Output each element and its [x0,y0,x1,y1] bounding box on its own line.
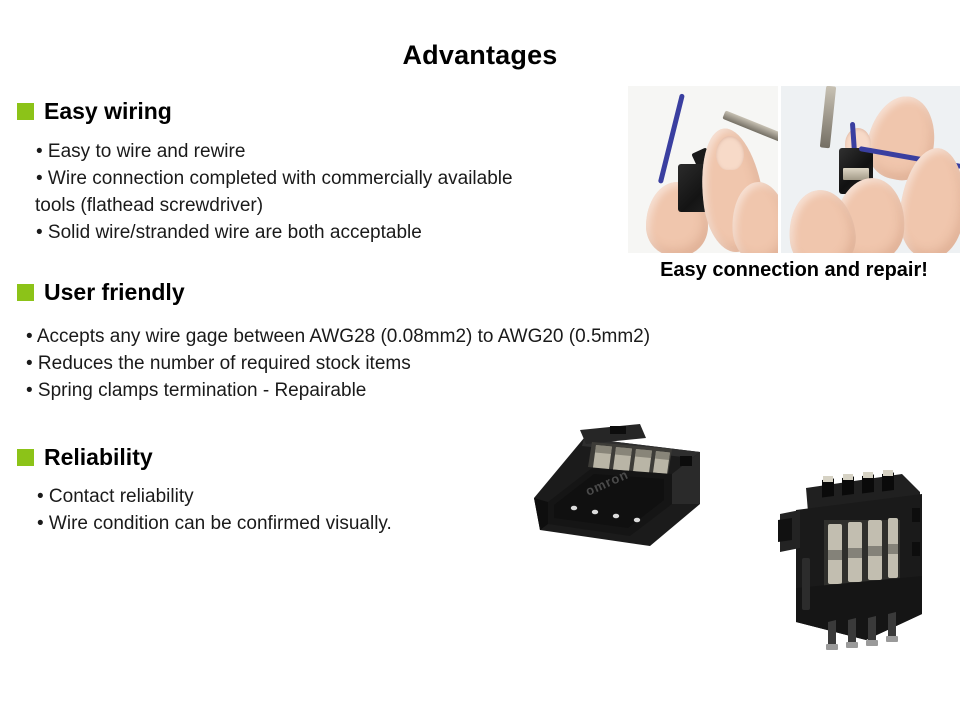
bullet-line: • Spring clamps termination - Repairable [26,377,766,404]
bullet-line-continuation: tools (flathead screwdriver) [35,192,616,219]
bullet-line: • Contact reliability [37,483,507,510]
section-heading-label: Reliability [44,446,153,469]
section-heading-reliability: Reliability [17,446,153,469]
photo-strip [628,86,960,253]
section-heading-label: User friendly [44,281,185,304]
page-title: Advantages [0,40,960,71]
section-heading-easy-wiring: Easy wiring [17,100,172,123]
slide-canvas: Advantages Easy wiring • Easy to wire an… [0,0,960,720]
photo-caption: Easy connection and repair! [628,259,960,282]
green-square-bullet-icon [17,284,34,301]
section-body-reliability: • Contact reliability • Wire condition c… [37,483,507,537]
section-body-user-friendly: • Accepts any wire gage between AWG28 (0… [26,323,766,404]
socket-connector-illustration [770,462,950,662]
section-heading-user-friendly: User friendly [17,281,185,304]
bullet-line: • Solid wire/stranded wire are both acce… [36,219,616,246]
product-image-plug: omron [522,412,722,562]
photo-connector-in-hand [781,86,960,253]
bullet-line: • Reduces the number of required stock i… [26,350,766,377]
bullet-line: • Easy to wire and rewire [36,138,616,165]
photo-wiring-insertion [628,86,778,253]
section-heading-label: Easy wiring [44,100,172,123]
bullet-line: • Wire connection completed with commerc… [36,165,616,192]
fingernail-shape [716,136,744,170]
bullet-line: • Wire condition can be confirmed visual… [37,510,507,537]
section-body-easy-wiring: • Easy to wire and rewire • Wire connect… [36,138,616,246]
plug-connector-illustration: omron [522,412,722,562]
green-square-bullet-icon [17,449,34,466]
product-image-socket [770,462,950,662]
bullet-line: • Accepts any wire gage between AWG28 (0… [26,323,766,350]
green-square-bullet-icon [17,103,34,120]
